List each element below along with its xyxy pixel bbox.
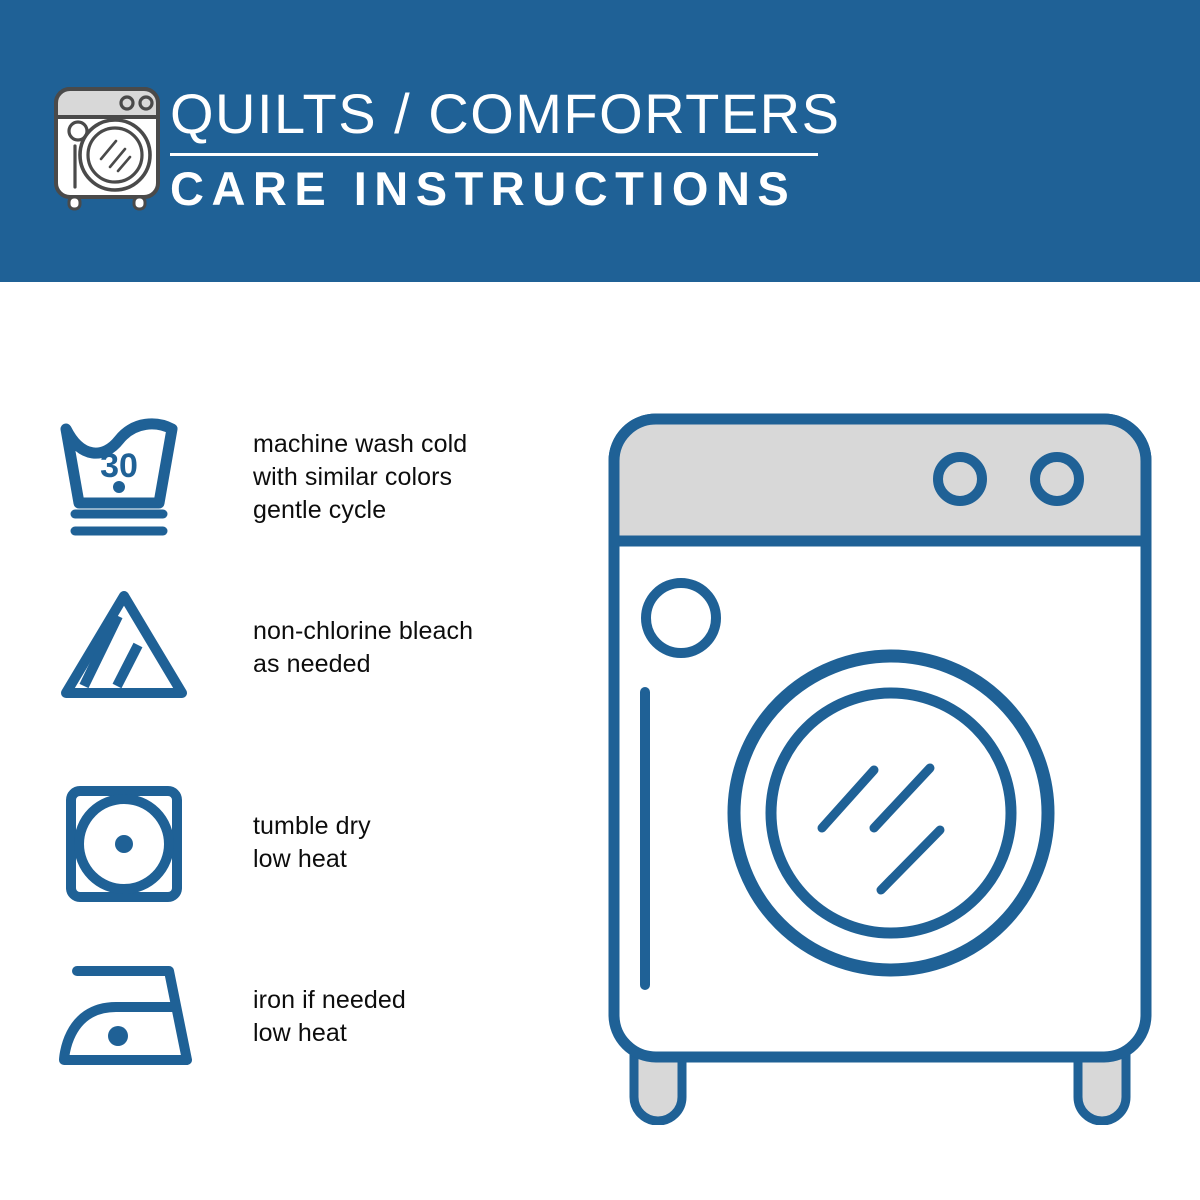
- page-title: QUILTS / COMFORTERS: [170, 84, 830, 144]
- washing-machine-icon: [52, 83, 162, 211]
- care-label-line: low heat: [253, 1017, 406, 1050]
- care-label-line: gentle cycle: [253, 494, 467, 527]
- care-label-line: tumble dry: [253, 810, 371, 843]
- iron-icon: [56, 952, 206, 1082]
- page-subtitle: CARE INSTRUCTIONS: [170, 163, 830, 215]
- care-row-tumble-dry: tumble dry low heat: [0, 778, 560, 908]
- wash-tub-icon: 30: [56, 415, 206, 545]
- care-row-bleach: non-chlorine bleach as needed: [0, 583, 560, 713]
- care-label-line: non-chlorine bleach: [253, 615, 473, 648]
- washing-machine-illustration: [600, 400, 1160, 1125]
- care-label-line: machine wash cold: [253, 428, 467, 461]
- care-label-iron: iron if needed low heat: [253, 984, 406, 1050]
- header-text-block: QUILTS / COMFORTERS CARE INSTRUCTIONS: [170, 84, 830, 215]
- care-label-line: iron if needed: [253, 984, 406, 1017]
- care-label-line: as needed: [253, 648, 473, 681]
- header-banner: QUILTS / COMFORTERS CARE INSTRUCTIONS: [0, 0, 1200, 282]
- care-label-wash: machine wash cold with similar colors ge…: [253, 428, 467, 527]
- machine-control-panel: [614, 419, 1146, 541]
- care-label-tumble-dry: tumble dry low heat: [253, 810, 371, 876]
- care-label-line: with similar colors: [253, 461, 467, 494]
- care-row-wash: 30 machine wash cold with similar colors…: [0, 415, 560, 545]
- wash-temperature-value: 30: [100, 447, 138, 485]
- care-row-iron: iron if needed low heat: [0, 952, 560, 1082]
- care-label-line: low heat: [253, 843, 371, 876]
- care-label-bleach: non-chlorine bleach as needed: [253, 615, 473, 681]
- tumble-dry-icon: [56, 778, 206, 908]
- care-instructions-page: QUILTS / COMFORTERS CARE INSTRUCTIONS 30…: [0, 0, 1200, 1200]
- bleach-triangle-icon: [56, 583, 206, 713]
- title-divider: [170, 153, 818, 156]
